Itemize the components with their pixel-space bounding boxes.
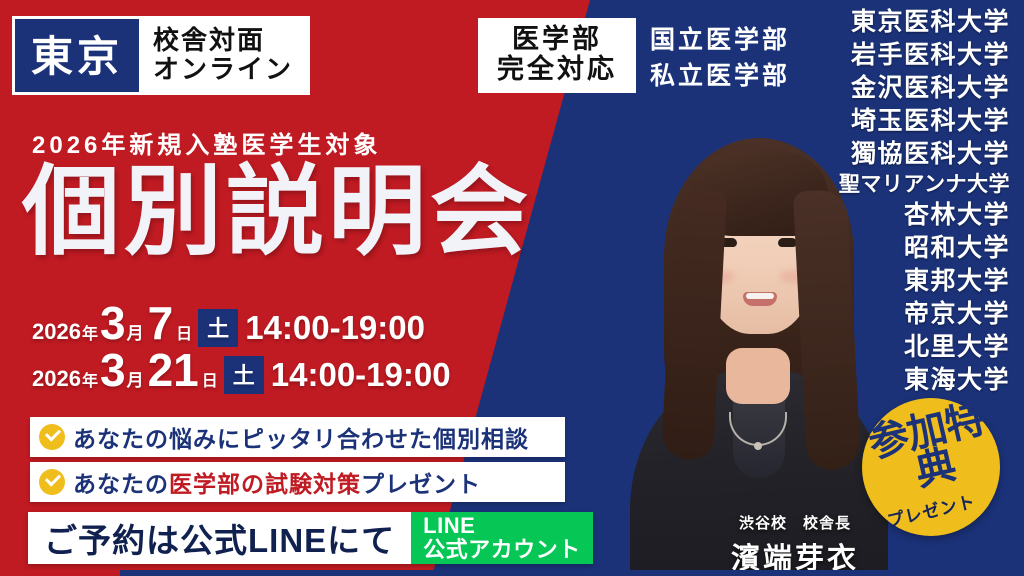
date-month: 3: [100, 300, 126, 346]
university-item: 帝京大学: [810, 298, 1010, 331]
benefit-text: あなたの悩みにピッタリ合わせた個別相談: [73, 420, 529, 454]
department-coverage-list: 国立医学部 私立医学部: [650, 22, 790, 95]
benefit-text-post: プレゼント: [361, 471, 481, 497]
date-time-range: 14:00-19:00: [245, 309, 425, 347]
date-month: 3: [100, 347, 126, 393]
university-item: 東邦大学: [810, 265, 1010, 298]
university-item: 東海大学: [810, 364, 1010, 397]
date-year-kanji: 年: [82, 367, 98, 391]
department-private-label: 私立医学部: [650, 58, 790, 94]
date-day: 7: [148, 300, 174, 346]
date-day-kanji: 日: [176, 320, 192, 344]
date-year: 2026: [32, 366, 81, 392]
benefit-text-pre: あなたの悩みにピッタリ合わせた個別相談: [73, 426, 529, 452]
university-item: 東京医科大学: [810, 6, 1010, 39]
date-time-range: 14:00-19:00: [271, 356, 451, 394]
bottom-accent-strip: [0, 570, 1024, 576]
check-circle-icon: [39, 424, 65, 450]
mouth: [743, 292, 777, 306]
event-date-row: 2026 年 3 月 21 日 土 14:00-19:00: [32, 347, 451, 397]
full-support-line-2: 完全対応: [497, 55, 617, 85]
attendance-modes: 校舎対面 オンライン: [139, 19, 307, 92]
university-item: 金沢医科大学: [810, 72, 1010, 105]
event-subtitle: 2026年新規入塾医学生対象: [32, 125, 381, 160]
date-year-kanji: 年: [82, 320, 98, 344]
date-weekday-badge: 土: [198, 309, 238, 347]
check-circle-icon: [39, 469, 65, 495]
mode-in-person-label: 校舎対面: [153, 26, 293, 55]
presenter-caption: 渋谷校 校舎長 濱端芽衣: [700, 512, 890, 576]
bottom-strip-red: [0, 570, 120, 576]
benefit-text: あなたの医学部の試験対策プレゼント: [73, 465, 481, 499]
event-date-row: 2026 年 3 月 7 日 土 14:00-19:00: [32, 300, 425, 350]
date-year: 2026: [32, 319, 81, 345]
university-item: 杏林大学: [810, 199, 1010, 232]
full-support-line-1: 医学部: [512, 25, 602, 55]
mode-online-label: オンライン: [153, 55, 293, 84]
neck: [726, 348, 790, 404]
bottom-strip-navy: [120, 570, 1024, 576]
date-day: 21: [148, 347, 199, 393]
university-item: 昭和大学: [810, 232, 1010, 265]
line-official-account-button[interactable]: LINE 公式アカウント: [411, 512, 593, 564]
line-account-label: 公式アカウント: [423, 538, 581, 562]
event-headline: 個別説明会: [22, 162, 532, 260]
location-badge: 東京 校舎対面 オンライン: [12, 16, 310, 95]
university-list: 東京医科大学 岩手医科大学 金沢医科大学 埼玉医科大学 獨協医科大学 聖マリアン…: [810, 6, 1010, 397]
date-day-kanji: 日: [202, 367, 218, 391]
benefit-row: あなたの悩みにピッタリ合わせた個別相談: [30, 417, 565, 457]
benefit-text-pre: あなたの: [73, 471, 169, 497]
university-item: 北里大学: [810, 331, 1010, 364]
university-item: 岩手医科大学: [810, 39, 1010, 72]
date-weekday-badge: 土: [224, 356, 264, 394]
university-item: 埼玉医科大学: [810, 105, 1010, 138]
benefit-text-highlight: 医学部の試験対策: [169, 471, 361, 497]
date-month-kanji: 月: [127, 319, 144, 344]
promotional-banner: 東京 校舎対面 オンライン 医学部 完全対応 国立医学部 私立医学部 東京医科大…: [0, 0, 1024, 576]
full-support-badge: 医学部 完全対応: [478, 18, 636, 93]
line-brand-label: LINE: [423, 514, 581, 538]
presenter-role: 渋谷校 校舎長: [700, 512, 890, 533]
reservation-cta[interactable]: ご予約は公式LINEにて LINE 公式アカウント: [28, 512, 593, 564]
university-item: 聖マリアンナ大学: [810, 171, 1010, 199]
eye-right: [778, 238, 797, 247]
benefit-row: あなたの医学部の試験対策プレゼント: [30, 462, 565, 502]
date-month-kanji: 月: [127, 366, 144, 391]
department-national-label: 国立医学部: [650, 22, 790, 58]
location-city-label: 東京: [15, 19, 139, 92]
university-item: 獨協医科大学: [810, 138, 1010, 171]
cta-text: ご予約は公式LINEにて: [28, 512, 411, 564]
